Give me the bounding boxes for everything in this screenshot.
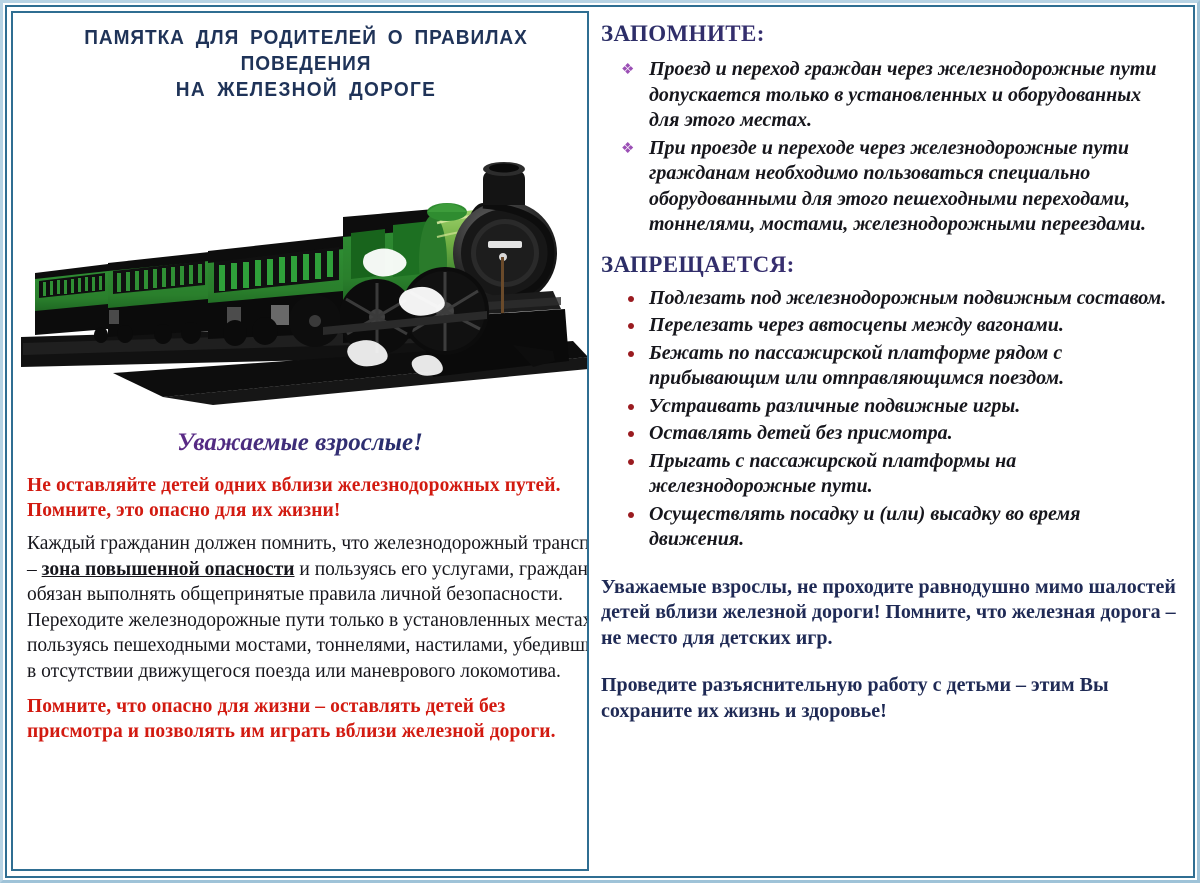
closing-paragraph-1: Уважаемые взрослы, не проходите равнодуш… [601, 575, 1177, 652]
right-column: ЗАПОМНИТЕ: Проезд и переход граждан чере… [591, 11, 1191, 871]
list-item: Оставлять детей без присмотра. [619, 421, 1175, 447]
page-title: ПАМЯТКА ДЛЯ РОДИТЕЛЕЙ О ПРАВИЛАХ ПОВЕДЕН… [58, 25, 555, 103]
closing-paragraph-2: Проведите разъяснительную работу с детьм… [601, 673, 1177, 724]
left-column: ПАМЯТКА ДЛЯ РОДИТЕЛЕЙ О ПРАВИЛАХ ПОВЕДЕН… [11, 11, 589, 871]
forbidden-list: Подлезать под железнодорожным подвижным … [595, 286, 1181, 553]
left-text-block: Уважаемые взрослые! Не оставляйте детей … [13, 429, 587, 744]
list-item: Осуществлять посадку и (или) высадку во … [619, 502, 1175, 553]
list-item: Подлезать под железнодорожным подвижным … [619, 286, 1175, 312]
page-title-line2: НА ЖЕЛЕЗНОЙ ДОРОГЕ [58, 77, 555, 103]
warning-top: Не оставляйте детей одних вблизи железно… [27, 473, 573, 523]
main-paragraph: Каждый гражданин должен помнить, что жел… [27, 531, 589, 684]
remember-heading: ЗАПОМНИТЕ: [601, 21, 1181, 47]
remember-list: Проезд и переход граждан через железнодо… [595, 57, 1181, 238]
adults-heading: Уважаемые взрослые! [27, 429, 573, 457]
warning-bottom: Помните, что опасно для жизни – оставлят… [27, 694, 573, 744]
paragraph-emphasis: зона повышенной опасности [42, 559, 295, 580]
list-item: Устраивать различные подвижные игры. [619, 394, 1175, 420]
list-item: Перелезать через автосцепы между вагонам… [619, 313, 1175, 339]
page-title-line1: ПАМЯТКА ДЛЯ РОДИТЕЛЕЙ О ПРАВИЛАХ ПОВЕДЕН… [84, 26, 527, 75]
steam-train-illustration [13, 105, 589, 415]
forbidden-heading: ЗАПРЕЩАЕТСЯ: [601, 252, 1181, 278]
list-item: Бежать по пассажирской платформе рядом с… [619, 341, 1175, 392]
list-item: Прыгать с пассажирской платформы на желе… [619, 449, 1175, 500]
list-item: При проезде и переходе через железнодоро… [619, 136, 1175, 238]
list-item: Проезд и переход граждан через железнодо… [619, 57, 1175, 134]
poster-root: ПАМЯТКА ДЛЯ РОДИТЕЛЕЙ О ПРАВИЛАХ ПОВЕДЕН… [0, 0, 1200, 883]
